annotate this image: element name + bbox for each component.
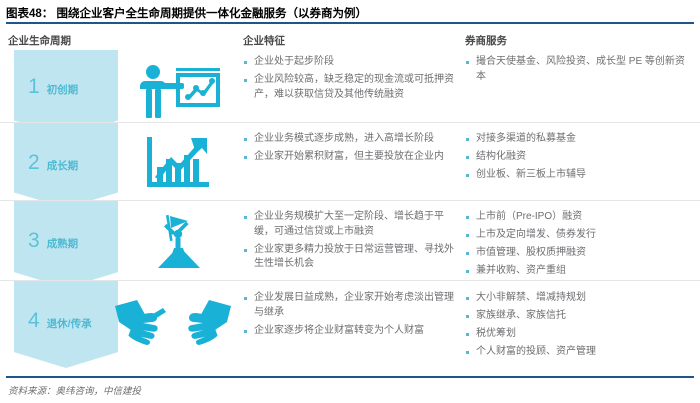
column-header-features: 企业特征 <box>243 33 285 48</box>
features-list: 企业业务规模扩大至一定阶段、增长趋于平缓，可通过信贷或上市融资 企业家更多精力投… <box>243 210 455 272</box>
list-item: 企业家逐步将企业财富转变为个人财富 <box>243 324 455 339</box>
list-item: 上市及定向增发、债券发行 <box>465 228 693 243</box>
list-item: 企业业务模式逐步成熟，进入高增长阶段 <box>243 132 455 147</box>
flag-summit-icon <box>120 201 238 281</box>
figure-number: 图表48： <box>6 8 53 20</box>
table-row: 企业业务规模扩大至一定阶段、增长趋于平缓，可通过信贷或上市融资 企业家更多精力投… <box>0 200 700 281</box>
figure-root: 图表48： 围绕企业客户全生命周期提供一体化金融服务（以券商为例） 企业生命周期… <box>0 0 700 403</box>
list-item: 市值管理、股权质押融资 <box>465 246 693 261</box>
table-row: 企业发展日益成熟，企业家开始考虑淡出管理与继承 企业家逐步将企业财富转变为个人财… <box>0 280 700 369</box>
list-item: 撮合天使基金、风险投资、成长型 PE 等创新资本 <box>465 55 693 84</box>
handshake-baton-icon <box>108 281 238 369</box>
list-item: 个人财富的投顾、资产管理 <box>465 345 693 360</box>
growth-bar-chart-icon <box>120 123 238 201</box>
features-list: 企业业务模式逐步成熟，进入高增长阶段 企业家开始累积财富，但主要投放在企业内 <box>243 132 455 165</box>
list-item: 兼并收购、资产重组 <box>465 264 693 279</box>
list-item: 企业业务规模扩大至一定阶段、增长趋于平缓，可通过信贷或上市融资 <box>243 210 455 239</box>
list-item: 大小非解禁、增减持规划 <box>465 291 693 306</box>
list-item: 上市前（Pre-IPO）融资 <box>465 210 693 225</box>
list-item: 税优筹划 <box>465 327 693 342</box>
list-item: 企业发展日益成熟，企业家开始考虑淡出管理与继承 <box>243 291 455 320</box>
footer-rule <box>6 376 694 378</box>
features-list: 企业处于起步阶段 企业风险较高，缺乏稳定的现金流或可抵押资产，难以获取信贷及其他… <box>243 55 455 102</box>
list-item: 企业处于起步阶段 <box>243 55 455 70</box>
list-item: 家族继承、家族信托 <box>465 309 693 324</box>
figure-title-text: 围绕企业客户全生命周期提供一体化金融服务（以券商为例） <box>57 8 368 20</box>
lifecycle-table: 1 初创期 2 成长期 3 成熟期 4 退休/传承 <box>0 50 700 368</box>
list-item: 企业风险较高，缺乏稳定的现金流或可抵押资产，难以获取信贷及其他传统融资 <box>243 73 455 102</box>
services-list: 上市前（Pre-IPO）融资 上市及定向增发、债券发行 市值管理、股权质押融资 … <box>465 210 693 279</box>
column-header-services: 券商服务 <box>465 33 507 48</box>
title-rule <box>6 22 694 24</box>
list-item: 创业板、新三板上市辅导 <box>465 168 693 183</box>
list-item: 企业家开始累积财富，但主要投放在企业内 <box>243 150 455 165</box>
list-item: 企业家更多精力投放于日常运营管理、寻找外生性增长机会 <box>243 243 455 272</box>
column-header-lifecycle: 企业生命周期 <box>8 33 71 48</box>
source-note: 资料来源：奥纬咨询，中信建投 <box>8 383 141 397</box>
services-list: 对接多渠道的私募基金 结构化融资 创业板、新三板上市辅导 <box>465 132 693 183</box>
list-item: 对接多渠道的私募基金 <box>465 132 693 147</box>
services-list: 大小非解禁、增减持规划 家族继承、家族信托 税优筹划 个人财富的投顾、资产管理 <box>465 291 693 360</box>
services-list: 撮合天使基金、风险投资、成长型 PE 等创新资本 <box>465 55 693 84</box>
features-list: 企业发展日益成熟，企业家开始考虑淡出管理与继承 企业家逐步将企业财富转变为个人财… <box>243 291 455 338</box>
list-item: 结构化融资 <box>465 150 693 165</box>
figure-title: 图表48： 围绕企业客户全生命周期提供一体化金融服务（以券商为例） <box>6 5 694 21</box>
table-row: 企业业务模式逐步成熟，进入高增长阶段 企业家开始累积财富，但主要投放在企业内 对… <box>0 122 700 201</box>
